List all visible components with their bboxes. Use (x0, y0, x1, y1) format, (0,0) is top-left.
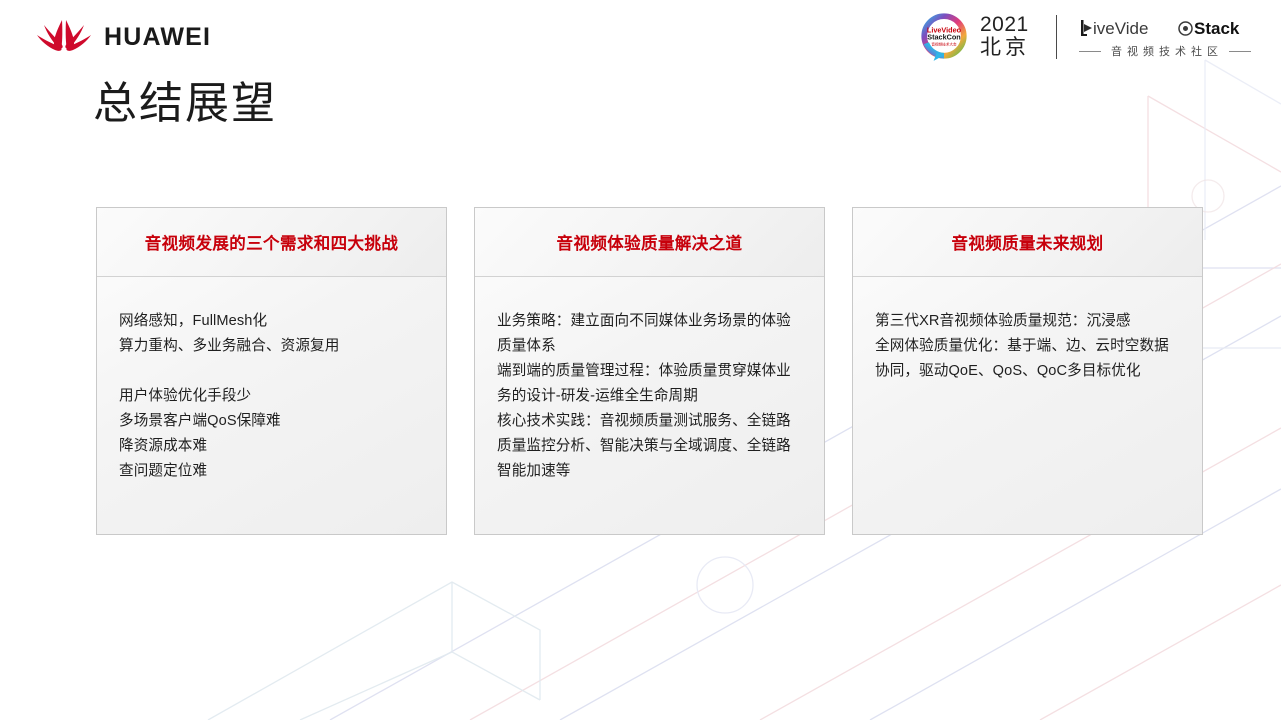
card-paragraph: 业务策略：建立面向不同媒体业务场景的体验质量体系 (497, 309, 802, 359)
slide-header: HUAWEI (0, 0, 1281, 72)
conference-logos: LiveVideo StackCon 音视频技术大会 2021 北京 iveVi… (918, 13, 1251, 61)
logo-divider (1056, 15, 1057, 59)
slide-canvas: HUAWEI (0, 0, 1281, 720)
card-experience-quality-solution: 音视频体验质量解决之道 业务策略：建立面向不同媒体业务场景的体验质量体系 端到端… (474, 207, 825, 535)
card-future-quality-roadmap: 音视频质量未来规划 第三代XR音视频体验质量规范：沉浸感 全网体验质量优化：基于… (852, 207, 1203, 535)
subtitle-rule-right (1229, 51, 1251, 52)
svg-text:StackCon: StackCon (927, 33, 961, 42)
card-header: 音视频体验质量解决之道 (475, 208, 824, 277)
card-paragraph: 全网体验质量优化：基于端、边、云时空数据协同，驱动QoE、QoS、QoC多目标优… (875, 334, 1180, 384)
huawei-logo: HUAWEI (36, 18, 211, 56)
card-paragraph: 查问题定位难 (119, 459, 424, 484)
page-title: 总结展望 (93, 76, 277, 131)
card-header: 音视频发展的三个需求和四大挑战 (97, 208, 446, 277)
card-title: 音视频发展的三个需求和四大挑战 (145, 230, 399, 254)
card-paragraph: 降资源成本难 (119, 434, 424, 459)
card-paragraph: 算力重构、多业务融合、资源复用 (119, 334, 424, 359)
conference-year: 2021 (980, 14, 1030, 37)
card-paragraph: 用户体验优化手段少 (119, 384, 424, 409)
conference-edition: 2021 北京 (980, 14, 1030, 59)
svg-text:iveVide: iveVide (1093, 19, 1148, 38)
livevideostack-logotype-icon: iveVide Stack (1079, 15, 1251, 41)
card-paragraph: 多场景客户端QoS保障难 (119, 409, 424, 434)
card-title: 音视频质量未来规划 (951, 230, 1103, 254)
card-requirements-and-challenges: 音视频发展的三个需求和四大挑战 网络感知，FullMesh化 算力重构、多业务融… (96, 207, 447, 535)
card-paragraph: 第三代XR音视频体验质量规范：沉浸感 (875, 309, 1180, 334)
card-body: 网络感知，FullMesh化 算力重构、多业务融合、资源复用 用户体验优化手段少… (97, 277, 446, 534)
card-paragraph: 核心技术实践：音视频质量测试服务、全链路质量监控分析、智能决策与全域调度、全链路… (497, 409, 802, 484)
card-paragraph: 网络感知，FullMesh化 (119, 309, 424, 334)
huawei-flower-logo-icon (36, 18, 92, 56)
svg-text:音视频技术大会: 音视频技术大会 (931, 41, 957, 46)
card-paragraph: 端到端的质量管理过程：体验质量贯穿媒体业务的设计-研发-运维全生命周期 (497, 359, 802, 409)
svg-text:Stack: Stack (1194, 19, 1240, 38)
livevideostack-subtitle: 音视频技术社区 (1107, 43, 1223, 59)
summary-cards: 音视频发展的三个需求和四大挑战 网络感知，FullMesh化 算力重构、多业务融… (96, 207, 1203, 537)
subtitle-rule-left (1079, 51, 1101, 52)
huawei-wordmark: HUAWEI (104, 25, 211, 50)
livevideostack-subtitle-row: 音视频技术社区 (1079, 43, 1251, 59)
card-header: 音视频质量未来规划 (853, 208, 1202, 277)
livevideostack-wordmark: iveVide Stack 音视频技术社区 (1079, 15, 1251, 59)
livevideostackcon-badge-icon: LiveVideo StackCon 音视频技术大会 (918, 11, 970, 63)
card-title: 音视频体验质量解决之道 (557, 230, 743, 254)
conference-city: 北京 (980, 37, 1030, 60)
card-body: 第三代XR音视频体验质量规范：沉浸感 全网体验质量优化：基于端、边、云时空数据协… (853, 277, 1202, 534)
card-body: 业务策略：建立面向不同媒体业务场景的体验质量体系 端到端的质量管理过程：体验质量… (475, 277, 824, 534)
